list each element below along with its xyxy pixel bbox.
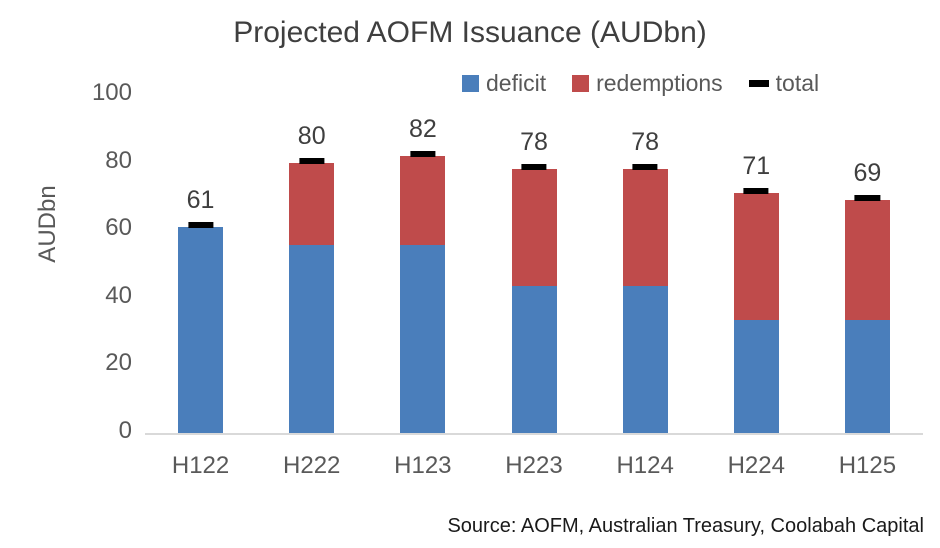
total-marker-bar-icon	[521, 164, 546, 170]
x-axis-tick-h223: H223	[478, 452, 589, 480]
chart-title: Projected AOFM Issuance (AUDbn)	[0, 16, 940, 50]
x-axis-tick-h224: H224	[701, 452, 812, 480]
bar-group-h222[interactable]	[289, 163, 334, 433]
bar-segment-deficit[interactable]	[178, 227, 223, 433]
bar-segment-redemptions[interactable]	[512, 169, 557, 286]
bar-group-h125[interactable]	[845, 200, 890, 433]
total-marker-h224[interactable]	[734, 188, 779, 194]
total-marker-bar-icon	[299, 158, 324, 164]
y-axis-tick-40: 40	[58, 284, 132, 308]
bar-segment-redemptions[interactable]	[734, 193, 779, 320]
data-label-h222: 80	[298, 124, 326, 149]
y-axis-tick-20: 20	[58, 351, 132, 375]
bar-segment-deficit[interactable]	[734, 320, 779, 433]
data-label-h125: 69	[854, 161, 882, 186]
total-marker-h125[interactable]	[845, 195, 890, 201]
bar-segment-redemptions[interactable]	[845, 200, 890, 320]
data-label-h223: 78	[520, 130, 548, 155]
y-axis-tick-60: 60	[58, 216, 132, 240]
bar-group-h123[interactable]	[400, 156, 445, 433]
total-marker-bar-icon	[855, 195, 880, 201]
chart-container: Projected AOFM Issuance (AUDbn) deficit …	[0, 0, 940, 548]
bar-segment-redemptions[interactable]	[400, 156, 445, 246]
bar-segment-deficit[interactable]	[512, 286, 557, 433]
bar-segment-deficit[interactable]	[623, 286, 668, 433]
bar-segment-deficit[interactable]	[289, 245, 334, 433]
total-marker-h124[interactable]	[623, 164, 668, 170]
data-label-h224: 71	[742, 154, 770, 179]
x-axis-tick-h122: H122	[145, 452, 256, 480]
legend-swatch-deficit-icon	[462, 75, 479, 92]
y-axis-tick-0: 0	[58, 419, 132, 443]
data-label-h123: 82	[409, 117, 437, 142]
x-axis-tick-h125: H125	[812, 452, 923, 480]
y-axis-tick-labels: 100806040200	[58, 0, 132, 548]
legend-dash-total-icon	[749, 80, 769, 87]
bar-group-h122[interactable]	[178, 227, 223, 433]
y-axis-tick-100: 100	[58, 81, 132, 105]
bar-segment-redemptions[interactable]	[289, 163, 334, 246]
total-marker-h223[interactable]	[512, 164, 557, 170]
legend-swatch-redemptions-icon	[572, 75, 589, 92]
bar-group-h124[interactable]	[623, 169, 668, 433]
y-axis-tick-80: 80	[58, 149, 132, 173]
total-marker-h222[interactable]	[289, 158, 334, 164]
bar-group-h224[interactable]	[734, 193, 779, 433]
x-axis-tick-h222: H222	[256, 452, 367, 480]
total-marker-bar-icon	[744, 188, 769, 194]
total-marker-h122[interactable]	[178, 222, 223, 228]
bar-segment-deficit[interactable]	[400, 245, 445, 433]
x-axis-tick-h124: H124	[590, 452, 701, 480]
bar-group-h223[interactable]	[512, 169, 557, 433]
total-marker-bar-icon	[633, 164, 658, 170]
source-note: Source: AOFM, Australian Treasury, Coola…	[447, 515, 924, 538]
total-marker-h123[interactable]	[400, 151, 445, 157]
x-axis-tick-h123: H123	[367, 452, 478, 480]
total-marker-bar-icon	[188, 222, 213, 228]
total-marker-bar-icon	[410, 151, 435, 157]
bar-segment-deficit[interactable]	[845, 320, 890, 433]
data-label-h124: 78	[631, 130, 659, 155]
bar-segment-redemptions[interactable]	[623, 169, 668, 286]
data-label-h122: 61	[187, 188, 215, 213]
